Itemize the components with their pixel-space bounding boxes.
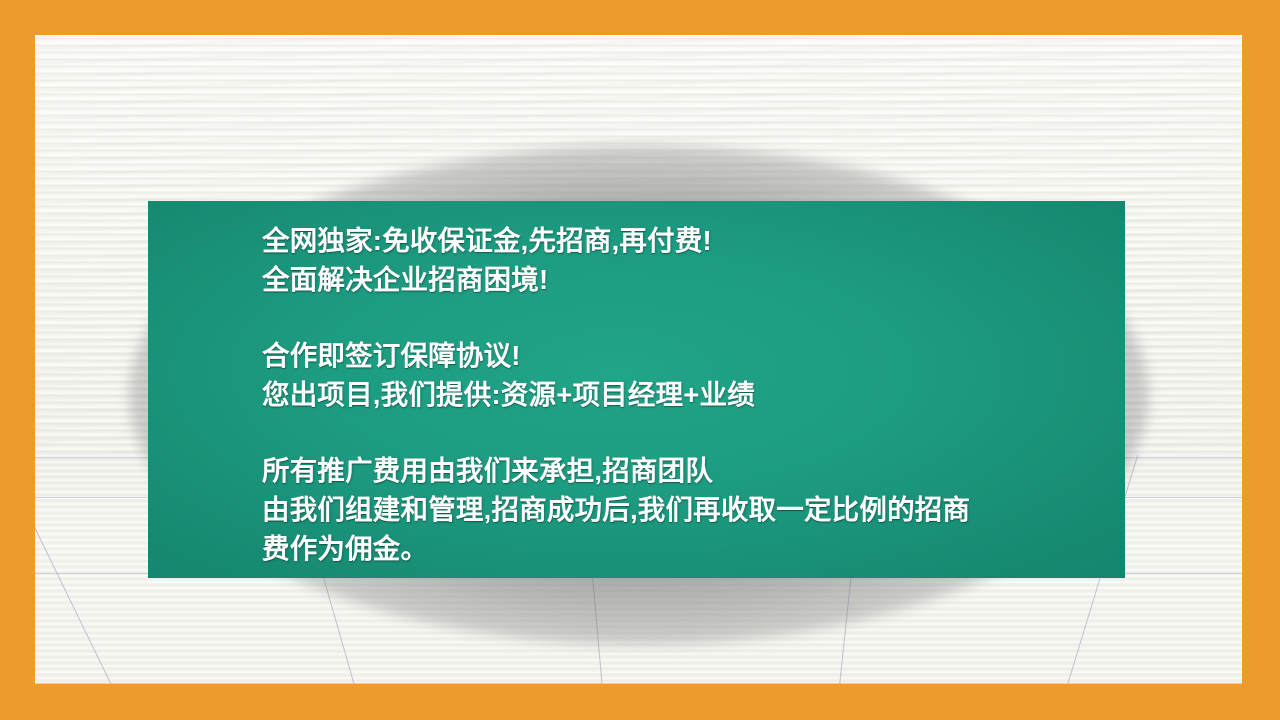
message-line: 费作为佣金。 — [262, 529, 1101, 568]
green-message-card: 全网独家:免收保证金,先招商,再付费! 全面解决企业招商困境! 合作即签订保障协… — [148, 201, 1125, 578]
message-line: 由我们组建和管理,招商成功后,我们再收取一定比例的招商 — [262, 490, 1101, 529]
message-line: 全网独家:免收保证金,先招商,再付费! — [262, 221, 1101, 260]
message-block-3: 所有推广费用由我们来承担,招商团队 由我们组建和管理,招商成功后,我们再收取一定… — [262, 451, 1101, 568]
presentation-slide: 全网独家:免收保证金,先招商,再付费! 全面解决企业招商困境! 合作即签订保障协… — [0, 0, 1280, 720]
message-line: 您出项目,我们提供:资源+项目经理+业绩 — [262, 375, 1101, 414]
message-block-1: 全网独家:免收保证金,先招商,再付费! 全面解决企业招商困境! — [262, 221, 1101, 299]
message-block-2: 合作即签订保障协议! 您出项目,我们提供:资源+项目经理+业绩 — [262, 336, 1101, 414]
message-line: 所有推广费用由我们来承担,招商团队 — [262, 451, 1101, 490]
floor-gridline-horizontal — [35, 683, 1242, 684]
room-scene: 全网独家:免收保证金,先招商,再付费! 全面解决企业招商困境! 合作即签订保障协… — [35, 35, 1242, 684]
message-line: 全面解决企业招商困境! — [262, 260, 1101, 299]
message-line: 合作即签订保障协议! — [262, 336, 1101, 375]
